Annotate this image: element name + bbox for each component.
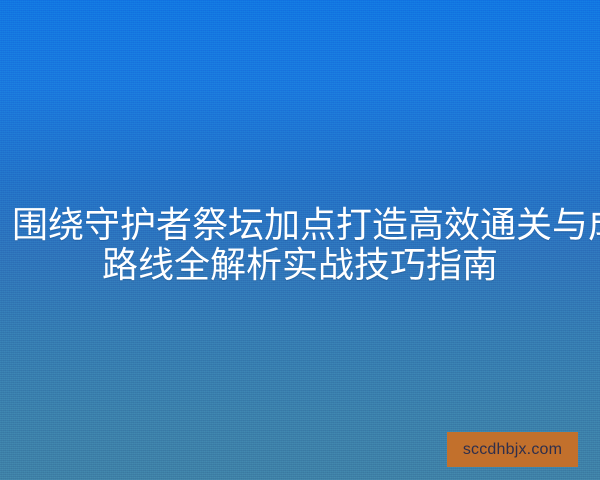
page-title-line-2: 路线全解析实战技巧指南	[12, 245, 588, 285]
poster-canvas: 围绕守护者祭坛加点打造高效通关与成长 路线全解析实战技巧指南 sccdhbjx.…	[0, 0, 600, 480]
watermark-badge: sccdhbjx.com	[447, 432, 578, 467]
watermark-site-label: sccdhbjx.com	[463, 442, 562, 458]
page-title: 围绕守护者祭坛加点打造高效通关与成长 路线全解析实战技巧指南	[0, 205, 600, 285]
page-title-line-1: 围绕守护者祭坛加点打造高效通关与成长	[12, 205, 588, 245]
